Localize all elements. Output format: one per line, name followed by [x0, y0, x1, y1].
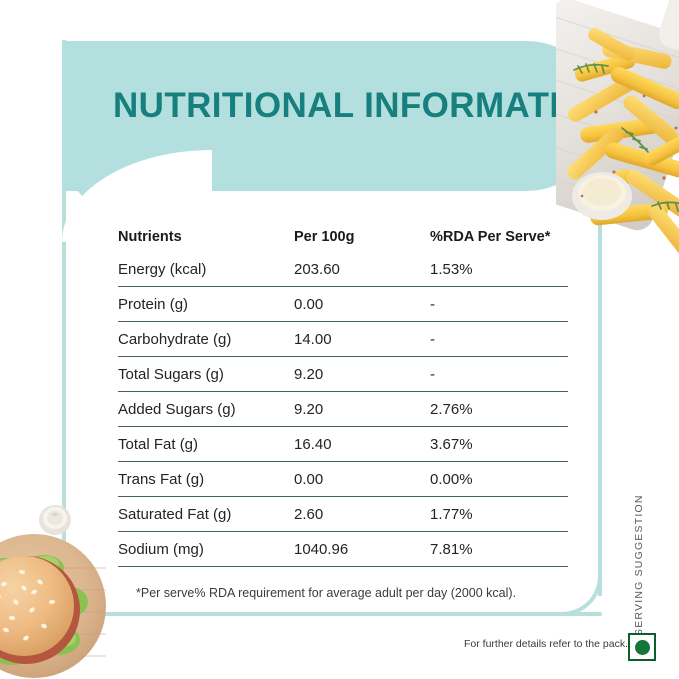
cell-nutrient: Total Sugars (g) [118, 357, 294, 392]
cell-nutrient: Saturated Fat (g) [118, 497, 294, 532]
column-header-per-100g: Per 100g [294, 222, 430, 252]
table-row: Trans Fat (g) 0.00 0.00% [118, 462, 568, 497]
cell-per-100g: 0.00 [294, 287, 430, 322]
cell-rda: 3.67% [430, 427, 568, 462]
table-row: Total Sugars (g) 9.20 - [118, 357, 568, 392]
vegetarian-mark-icon [628, 633, 656, 661]
table-row: Added Sugars (g) 9.20 2.76% [118, 392, 568, 427]
cell-nutrient: Sodium (mg) [118, 532, 294, 567]
table-row: Saturated Fat (g) 2.60 1.77% [118, 497, 568, 532]
cell-rda: - [430, 322, 568, 357]
cell-rda: 1.53% [430, 252, 568, 287]
nutrition-label-page: NUTRITIONAL INFORMATION [0, 0, 679, 679]
cell-per-100g: 2.60 [294, 497, 430, 532]
cell-per-100g: 203.60 [294, 252, 430, 287]
page-title: NUTRITIONAL INFORMATION [113, 86, 613, 126]
table-row: Protein (g) 0.00 - [118, 287, 568, 322]
pack-reference-note: For further details refer to the pack. [464, 638, 628, 650]
serving-suggestion-wrapper: SERVING SUGGESTION [645, 506, 661, 636]
cell-per-100g: 9.20 [294, 392, 430, 427]
table-row: Total Fat (g) 16.40 3.67% [118, 427, 568, 462]
table-header-row: Nutrients Per 100g %RDA Per Serve* [118, 222, 568, 252]
french-fries-photo [556, 0, 679, 255]
table-row: Energy (kcal) 203.60 1.53% [118, 252, 568, 287]
frame-corner-bottom-right [560, 574, 602, 616]
rda-footnote: *Per serve% RDA requirement for average … [136, 586, 516, 600]
cell-per-100g: 16.40 [294, 427, 430, 462]
frame-bottom-border [100, 612, 602, 616]
cell-rda: 1.77% [430, 497, 568, 532]
cell-per-100g: 1040.96 [294, 532, 430, 567]
table-body: Energy (kcal) 203.60 1.53% Protein (g) 0… [118, 252, 568, 567]
cell-per-100g: 9.20 [294, 357, 430, 392]
cell-per-100g: 14.00 [294, 322, 430, 357]
cell-rda: - [430, 357, 568, 392]
serving-suggestion-label: SERVING SUGGESTION [633, 494, 645, 636]
cell-rda: - [430, 287, 568, 322]
column-header-rda-per-serve: %RDA Per Serve* [430, 222, 568, 252]
sauce-cup-photo [35, 500, 75, 538]
cell-nutrient: Protein (g) [118, 287, 294, 322]
cell-rda: 7.81% [430, 532, 568, 567]
cell-per-100g: 0.00 [294, 462, 430, 497]
cell-nutrient: Added Sugars (g) [118, 392, 294, 427]
cell-rda: 0.00% [430, 462, 568, 497]
column-header-nutrients: Nutrients [118, 222, 294, 252]
cell-nutrient: Total Fat (g) [118, 427, 294, 462]
vegetarian-mark-dot [635, 640, 650, 655]
cell-rda: 2.76% [430, 392, 568, 427]
cell-nutrient: Energy (kcal) [118, 252, 294, 287]
table-row: Carbohydrate (g) 14.00 - [118, 322, 568, 357]
cell-nutrient: Carbohydrate (g) [118, 322, 294, 357]
cell-nutrient: Trans Fat (g) [118, 462, 294, 497]
table-row: Sodium (mg) 1040.96 7.81% [118, 532, 568, 567]
nutrition-table: Nutrients Per 100g %RDA Per Serve* Energ… [118, 222, 568, 567]
